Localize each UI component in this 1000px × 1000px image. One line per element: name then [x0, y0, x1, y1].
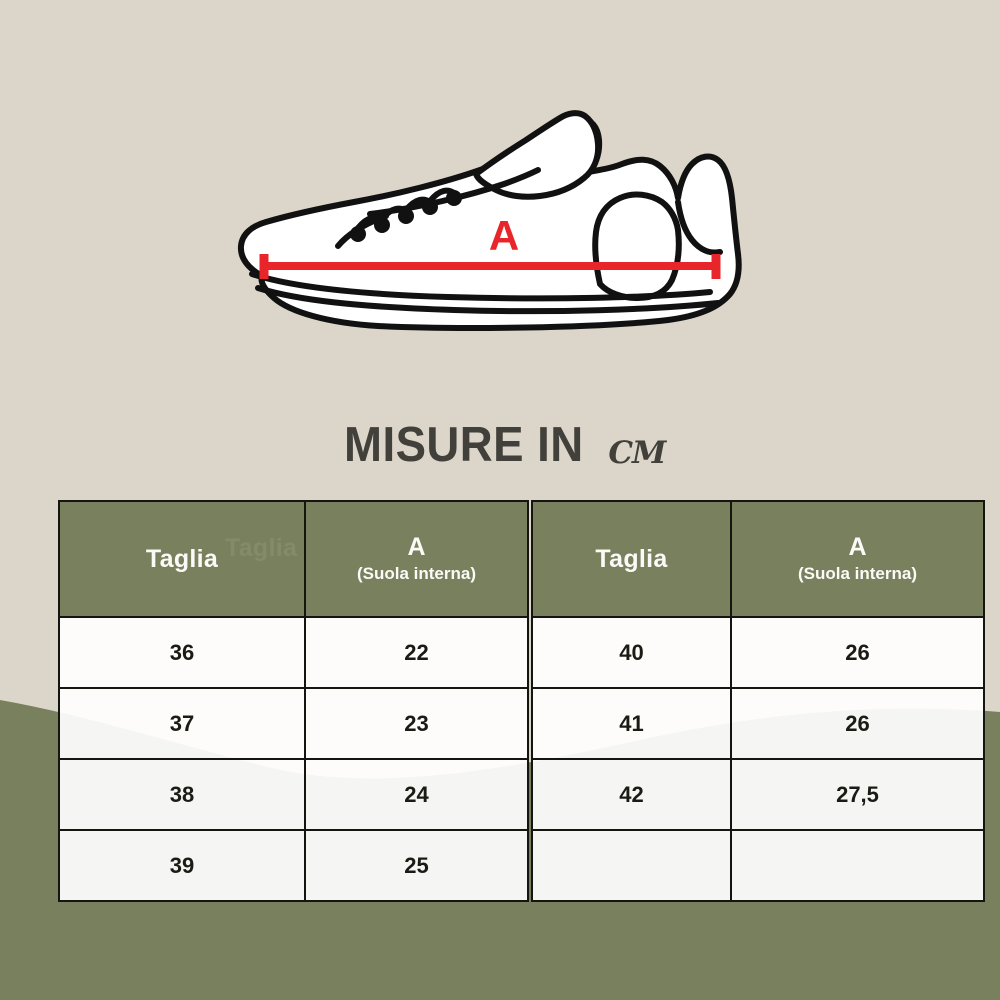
table-row: 3824	[59, 759, 528, 830]
header-measure-a-sub: (Suola interna)	[310, 563, 523, 584]
header-measure-a-main: A	[736, 534, 979, 560]
cell-measure-a: 22	[305, 617, 528, 688]
shoe-heel-counter	[595, 195, 679, 298]
table-row	[532, 830, 984, 901]
cell-size: 42	[532, 759, 731, 830]
size-table-right-body: 402641264227,5	[532, 617, 984, 901]
header-size: Taglia	[532, 501, 731, 617]
table-row: 3723	[59, 688, 528, 759]
size-table-right: Taglia A (Suola interna) 402641264227,5	[531, 500, 985, 902]
page-title: MISURE IN cm	[0, 409, 1000, 481]
cell-size: 39	[59, 830, 305, 901]
size-table-left: Taglia A (Suola interna) 362237233824392…	[58, 500, 529, 902]
header-size: Taglia	[59, 501, 305, 617]
cell-size	[532, 830, 731, 901]
measure-label-a: A	[489, 212, 519, 259]
cell-measure-a	[731, 830, 984, 901]
cell-measure-a: 27,5	[731, 759, 984, 830]
page-title-unit: cm	[608, 423, 665, 474]
header-measure-a: A (Suola interna)	[305, 501, 528, 617]
table-header-row: Taglia A (Suola interna)	[59, 501, 528, 617]
page-title-main: MISURE IN	[344, 417, 584, 473]
cell-size: 37	[59, 688, 305, 759]
table-row: 4227,5	[532, 759, 984, 830]
cell-size: 41	[532, 688, 731, 759]
cell-measure-a: 23	[305, 688, 528, 759]
table-row: 3925	[59, 830, 528, 901]
cell-size: 36	[59, 617, 305, 688]
sneaker-illustration: A	[218, 98, 766, 350]
header-measure-a: A (Suola interna)	[731, 501, 984, 617]
table-row: 3622	[59, 617, 528, 688]
table-row: 4126	[532, 688, 984, 759]
cell-measure-a: 26	[731, 688, 984, 759]
header-measure-a-sub: (Suola interna)	[736, 563, 979, 584]
size-table-left-body: 3622372338243925	[59, 617, 528, 901]
header-measure-a-main: A	[310, 534, 523, 560]
cell-size: 40	[532, 617, 731, 688]
cell-measure-a: 26	[731, 617, 984, 688]
table-header-row: Taglia A (Suola interna)	[532, 501, 984, 617]
cell-measure-a: 25	[305, 830, 528, 901]
table-row: 4026	[532, 617, 984, 688]
cell-measure-a: 24	[305, 759, 528, 830]
cell-size: 38	[59, 759, 305, 830]
